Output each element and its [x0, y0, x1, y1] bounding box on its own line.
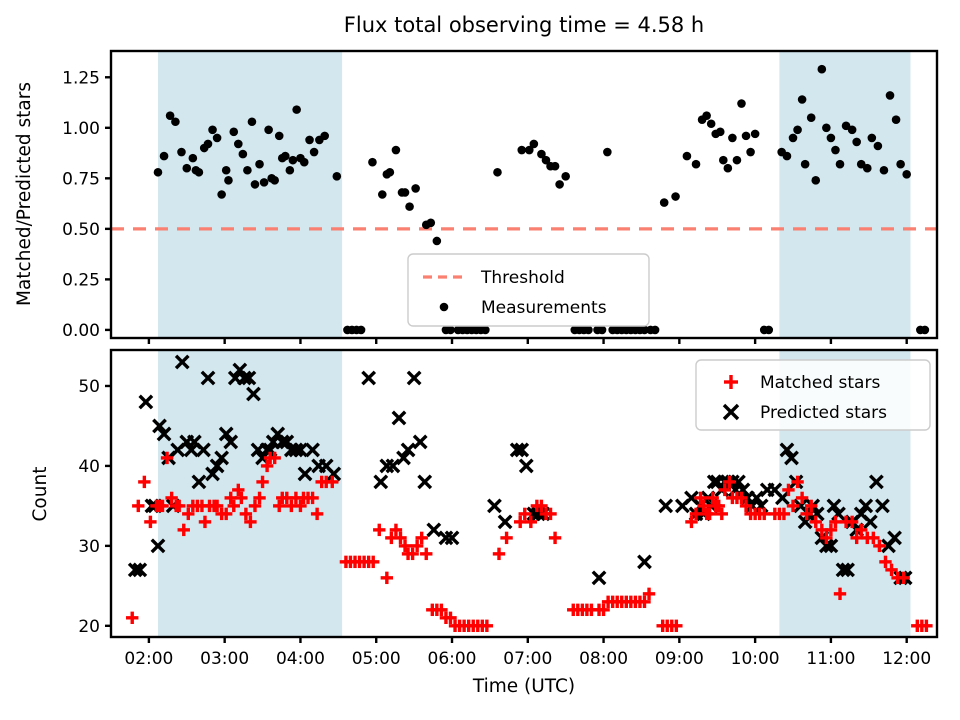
legend-label-threshold: Threshold	[480, 268, 565, 288]
data-point	[551, 162, 560, 171]
data-point	[239, 150, 248, 159]
data-point	[831, 146, 840, 155]
x-tick-label: 11:00	[806, 649, 855, 669]
data-point	[368, 158, 377, 167]
data-point	[746, 148, 755, 157]
data-point	[405, 202, 414, 211]
y-tick-label: 40	[78, 457, 100, 477]
data-point	[275, 132, 284, 141]
measurements-legend-swatch	[440, 303, 449, 312]
data-point	[651, 326, 660, 335]
data-point	[660, 198, 669, 207]
x-tick-label: 02:00	[124, 649, 173, 669]
data-point	[707, 119, 716, 128]
data-point	[811, 176, 820, 185]
data-point	[300, 158, 309, 167]
figure-canvas: Flux total observing time = 4.58 h 0.000…	[0, 0, 960, 720]
data-point	[880, 166, 889, 175]
data-point	[286, 166, 295, 175]
data-point	[333, 172, 342, 181]
data-point	[171, 117, 180, 126]
x-axis-label: Time (UTC)	[472, 676, 575, 697]
data-point	[863, 164, 872, 173]
data-point	[182, 164, 191, 173]
data-point	[561, 172, 570, 181]
data-point	[896, 160, 905, 169]
x-tick-label: 03:00	[200, 649, 249, 669]
data-point	[584, 326, 593, 335]
data-point	[289, 156, 298, 165]
x-tick-labels: 02:0003:0004:0005:0006:0007:0008:0009:00…	[124, 649, 931, 669]
data-point	[255, 160, 264, 169]
data-point	[886, 91, 895, 100]
data-point	[683, 152, 692, 161]
data-point	[264, 126, 273, 135]
data-point	[818, 65, 827, 74]
y-tick-label: 50	[78, 377, 100, 397]
data-point	[874, 142, 883, 151]
data-point	[742, 132, 751, 141]
data-point	[446, 326, 455, 335]
data-point	[248, 117, 257, 126]
data-point	[222, 166, 231, 175]
data-point	[411, 184, 420, 193]
legend-label-matched-stars: Matched stars	[760, 373, 880, 393]
data-point	[195, 168, 204, 177]
data-point	[229, 128, 238, 137]
data-point	[292, 105, 301, 114]
data-point	[357, 326, 366, 335]
data-point	[751, 130, 760, 139]
data-point	[728, 134, 737, 143]
data-point	[392, 146, 401, 155]
x-tick-label: 08:00	[579, 649, 628, 669]
data-point	[260, 178, 269, 187]
data-point	[204, 140, 213, 149]
x-tick-label: 05:00	[352, 649, 401, 669]
data-point	[702, 111, 711, 120]
data-point	[481, 326, 490, 335]
data-point	[807, 113, 816, 122]
data-point	[724, 164, 733, 173]
x-tick-label: 10:00	[731, 649, 780, 669]
data-point	[386, 168, 395, 177]
data-point	[378, 190, 387, 199]
data-point	[530, 140, 539, 149]
top-panel-y-axis-label: Matched/Predicted stars	[14, 82, 35, 306]
data-point	[798, 95, 807, 104]
data-point	[401, 188, 410, 197]
data-point	[921, 326, 930, 335]
data-point	[177, 148, 186, 157]
shaded-interval	[158, 51, 342, 338]
data-point	[892, 115, 901, 124]
data-point	[793, 126, 802, 135]
data-point	[555, 180, 564, 189]
data-point	[243, 166, 252, 175]
data-point	[783, 152, 792, 161]
y-tick-label: 0.50	[62, 220, 100, 240]
data-point	[213, 134, 222, 143]
x-tick-label: 06:00	[428, 649, 477, 669]
y-tick-label: 0.25	[62, 270, 100, 290]
data-point	[189, 154, 198, 163]
bottom-panel-legend[interactable]: Matched stars Predicted stars	[696, 360, 930, 430]
bottom-panel-y-axis-label: Count	[30, 467, 51, 522]
data-point	[789, 134, 798, 143]
data-point	[603, 148, 612, 157]
data-point	[868, 134, 877, 143]
data-point	[737, 99, 746, 108]
data-point	[764, 326, 773, 335]
data-point	[836, 160, 845, 169]
data-point	[305, 136, 314, 145]
page-title: Flux total observing time = 4.58 h	[344, 13, 704, 37]
data-point	[719, 156, 728, 165]
y-tick-label: 1.00	[62, 119, 100, 139]
data-point	[827, 134, 836, 143]
y-tick-label: 20	[78, 617, 100, 637]
data-point	[234, 140, 243, 149]
data-point	[208, 126, 217, 135]
y-tick-label: 0.00	[62, 321, 100, 341]
y-tick-label: 30	[78, 537, 100, 557]
legend-label-measurements: Measurements	[481, 298, 607, 318]
data-point	[671, 192, 680, 201]
x-tick-label: 07:00	[503, 649, 552, 669]
data-point	[801, 160, 810, 169]
data-point	[160, 152, 169, 161]
legend-label-predicted-stars: Predicted stars	[760, 403, 887, 423]
data-point	[822, 124, 831, 133]
x-tick-label: 09:00	[655, 649, 704, 669]
x-tick-label: 12:00	[882, 649, 931, 669]
data-point	[517, 146, 526, 155]
y-tick-label: 0.75	[62, 169, 100, 189]
data-point	[848, 126, 857, 135]
x-tick-label: 04:00	[276, 649, 325, 669]
data-point	[251, 180, 260, 189]
data-point	[733, 156, 742, 165]
y-tick-label: 1.25	[62, 68, 100, 88]
data-point	[320, 132, 329, 141]
data-point	[281, 152, 290, 161]
data-point	[902, 170, 911, 179]
data-point	[692, 160, 701, 169]
data-point	[426, 218, 435, 227]
data-point	[217, 190, 226, 199]
data-point	[852, 138, 861, 147]
data-point	[224, 176, 233, 185]
top-panel-legend[interactable]: Threshold Measurements	[408, 254, 649, 326]
data-point	[154, 168, 163, 177]
data-point	[270, 176, 279, 185]
data-point	[493, 168, 502, 177]
data-point	[433, 237, 442, 246]
data-point	[598, 326, 607, 335]
data-point	[310, 148, 319, 157]
data-point	[716, 128, 725, 137]
shaded-interval	[158, 350, 342, 637]
